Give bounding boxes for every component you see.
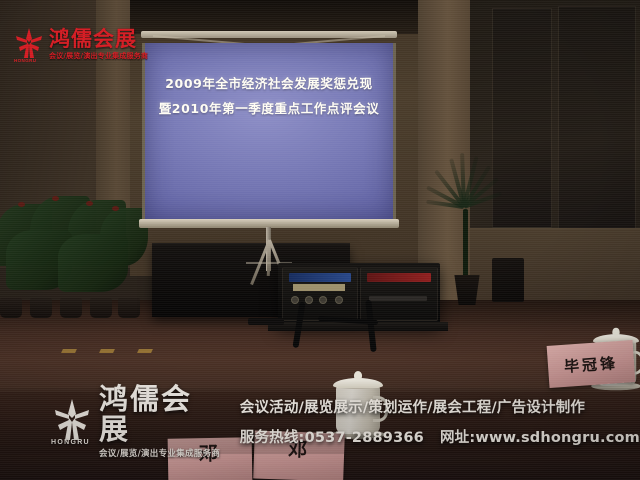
av-readout-left bbox=[293, 284, 345, 291]
av-unit-left bbox=[282, 267, 358, 321]
conference-room-photo: 2009年全市经济社会发展奖惩兑现 暨2010年第一季度重点工作点评会议 bbox=[0, 0, 640, 480]
watermark-top-brand: 鸿儒会展 bbox=[49, 28, 148, 50]
name-card-center-text: 邓 bbox=[288, 434, 311, 462]
floor-marks bbox=[62, 349, 182, 355]
red-led-display bbox=[367, 273, 431, 282]
wall-upper-shadow bbox=[130, 0, 430, 34]
slide-line-1: 2009年全市经济社会发展奖惩兑现 bbox=[145, 71, 393, 96]
av-disc-slot bbox=[369, 296, 427, 301]
name-card-left: 邓 bbox=[168, 437, 253, 480]
screen-edge-right bbox=[393, 43, 396, 220]
projection-screen: 2009年全市经济社会发展奖惩兑现 暨2010年第一季度重点工作点评会议 bbox=[145, 31, 393, 246]
microphone-base bbox=[248, 318, 284, 325]
teacup-front bbox=[330, 368, 386, 442]
watermark-top-tagline: 会议/展览/演出专业集成服务商 bbox=[49, 51, 148, 61]
slide-line-2: 暨2010年第一季度重点工作点评会议 bbox=[145, 96, 393, 121]
name-card-right: 毕冠锋 bbox=[547, 340, 636, 388]
palm-pot bbox=[452, 275, 482, 305]
screen-slide-text: 2009年全市经济社会发展奖惩兑现 暨2010年第一季度重点工作点评会议 bbox=[145, 71, 393, 121]
plant-bank bbox=[0, 168, 144, 318]
name-card-left-text: 邓 bbox=[199, 438, 221, 465]
door-panel-right bbox=[558, 6, 636, 230]
floor-speaker-box bbox=[492, 258, 524, 302]
name-card-center: 邓 bbox=[253, 430, 345, 480]
blue-led-display bbox=[289, 273, 351, 282]
hongru-star-mark-icon: HONGRU bbox=[14, 27, 44, 61]
name-card-right-text: 毕冠锋 bbox=[563, 352, 618, 377]
screen-surface bbox=[145, 43, 393, 220]
watermark-top-logo: HONGRU 鸿儒会展 会议/展览/演出专业集成服务商 bbox=[14, 27, 148, 61]
hongru-latin-mini: HONGRU bbox=[14, 58, 36, 63]
